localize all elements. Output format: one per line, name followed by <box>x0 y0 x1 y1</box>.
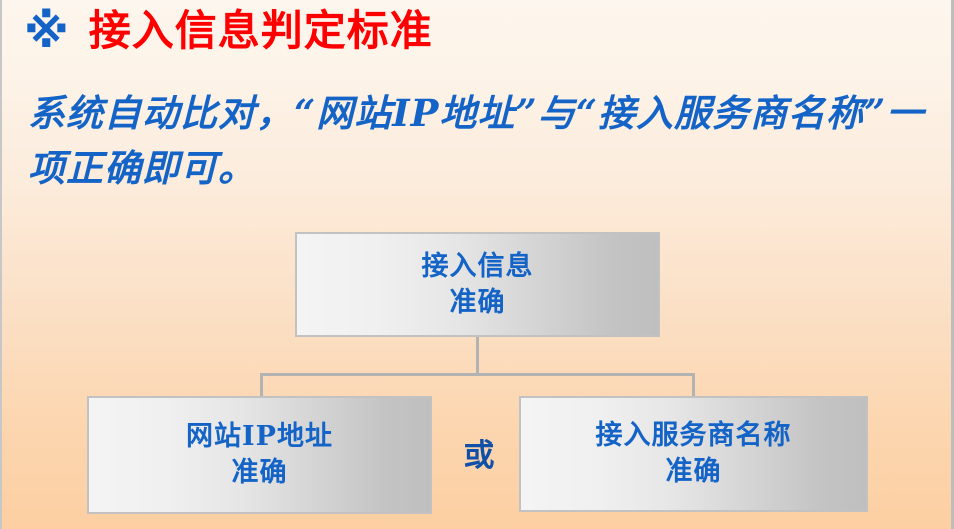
flow-box-isp-name-line2: 准确 <box>666 454 722 490</box>
flow-box-isp-name: 接入服务商名称 准确 <box>519 396 868 512</box>
flow-box-website-ip-line1: 网站IP地址 <box>186 419 333 455</box>
body-paragraph: 系统自动比对，“网站IP地址”与“接入服务商名称”一项正确即可。 <box>28 86 928 196</box>
flow-box-access-info-line2: 准确 <box>450 285 506 321</box>
flow-box-access-info: 接入信息 准确 <box>295 232 660 337</box>
connector-right-drop <box>692 373 695 397</box>
flow-box-website-ip-line2: 准确 <box>232 455 288 491</box>
connector-left-drop <box>260 373 263 397</box>
or-connector-label: 或 <box>442 430 516 475</box>
flow-box-access-info-line1: 接入信息 <box>422 249 534 285</box>
page-title-text: 接入信息判定标准 <box>89 10 433 52</box>
connector-stem <box>476 336 479 376</box>
connector-horizontal-bar <box>260 373 695 376</box>
flow-box-website-ip: 网站IP地址 准确 <box>87 396 432 514</box>
page-title: ※ 接入信息判定标准 <box>24 8 433 54</box>
reference-mark-icon: ※ <box>24 8 69 54</box>
slide-canvas: ※ 接入信息判定标准 系统自动比对，“网站IP地址”与“接入服务商名称”一项正确… <box>0 0 954 529</box>
flow-box-isp-name-line1: 接入服务商名称 <box>596 418 792 454</box>
